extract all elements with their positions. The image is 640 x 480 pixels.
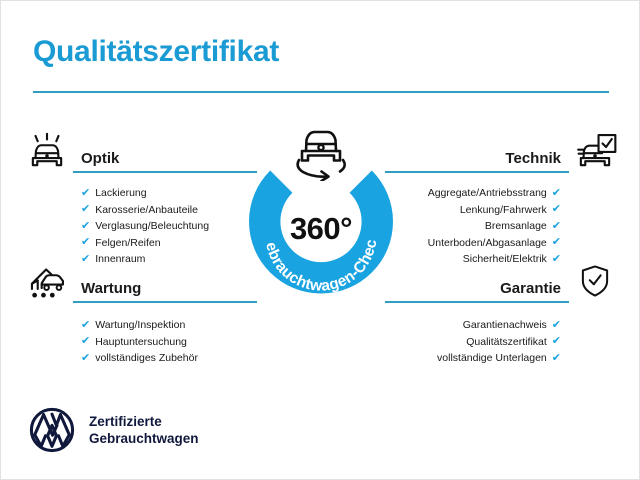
check-icon: ✔ bbox=[81, 221, 90, 232]
check-icon: ✔ bbox=[552, 237, 561, 248]
list-item-label: Verglasung/Beleuchtung bbox=[95, 218, 209, 235]
section-technik: Technik Aggregate/Antriebsstrang✔ Lenkun… bbox=[381, 129, 621, 268]
list-item-label: vollständiges Zubehör bbox=[95, 350, 198, 367]
shield-check-icon bbox=[569, 259, 621, 303]
list-item: ✔Hauptuntersuchung bbox=[81, 334, 261, 351]
badge-360-gebrauchtwagen-check: Gebrauchtwagen-Check 360° bbox=[226, 119, 416, 324]
section-title-wartung: Wartung bbox=[81, 280, 141, 297]
check-icon: ✔ bbox=[81, 188, 90, 199]
check-icon: ✔ bbox=[552, 320, 561, 331]
car-checkbox-icon bbox=[569, 129, 621, 173]
footer-line-1: Zertifizierte bbox=[89, 413, 199, 430]
list-item-label: Felgen/Reifen bbox=[95, 235, 160, 252]
check-icon: ✔ bbox=[81, 204, 90, 215]
list-item-label: Karosserie/Anbauteile bbox=[95, 202, 198, 219]
car-shine-icon bbox=[21, 129, 73, 173]
check-icon: ✔ bbox=[81, 336, 90, 347]
section-header-technik: Technik bbox=[381, 129, 621, 175]
check-icon: ✔ bbox=[81, 353, 90, 364]
footer-text: Zertifizierte Gebrauchtwagen bbox=[89, 413, 199, 447]
section-title-garantie: Garantie bbox=[500, 280, 561, 297]
list-item-label: Bremsanlage bbox=[485, 218, 547, 235]
title-divider bbox=[33, 91, 609, 93]
check-icon: ✔ bbox=[81, 320, 90, 331]
section-title-technik: Technik bbox=[505, 150, 561, 167]
list-item-label: Lackierung bbox=[95, 185, 146, 202]
section-header-garantie: Garantie bbox=[381, 259, 621, 305]
list-item-label: Lenkung/Fahrwerk bbox=[460, 202, 547, 219]
list-item-label: Garantienachweis bbox=[463, 317, 547, 334]
list-item: vollständige Unterlagen✔ bbox=[381, 350, 561, 367]
car-lift-icon bbox=[21, 259, 73, 303]
list-item-label: vollständige Unterlagen bbox=[437, 350, 547, 367]
checklist-garantie: Garantienachweis✔ Qualitätszertifikat✔ v… bbox=[381, 317, 561, 367]
badge-value: 360° bbox=[226, 211, 416, 247]
check-icon: ✔ bbox=[552, 353, 561, 364]
footer-line-2: Gebrauchtwagen bbox=[89, 430, 199, 447]
section-header-wartung: Wartung bbox=[21, 259, 261, 305]
list-item-label: Aggregate/Antriebsstrang bbox=[428, 185, 547, 202]
car-rotation-icon bbox=[283, 119, 359, 181]
section-title-optik: Optik bbox=[81, 150, 119, 167]
list-item: ✔vollständiges Zubehör bbox=[81, 350, 261, 367]
page-title: Qualitätszertifikat bbox=[33, 35, 279, 69]
footer-branding: Zertifizierte Gebrauchtwagen bbox=[29, 407, 199, 453]
section-wartung: Wartung ✔Wartung/Inspektion ✔Hauptunters… bbox=[21, 259, 261, 367]
section-garantie: Garantie Garantienachweis✔ Qualitätszert… bbox=[381, 259, 621, 367]
check-icon: ✔ bbox=[552, 204, 561, 215]
certificate-page: Qualitätszertifikat bbox=[0, 0, 640, 480]
list-item-label: Wartung/Inspektion bbox=[95, 317, 185, 334]
checklist-wartung: ✔Wartung/Inspektion ✔Hauptuntersuchung ✔… bbox=[81, 317, 261, 367]
list-item-label: Hauptuntersuchung bbox=[95, 334, 187, 351]
list-item-label: Unterboden/Abgasanlage bbox=[428, 235, 547, 252]
check-icon: ✔ bbox=[552, 188, 561, 199]
volkswagen-logo bbox=[29, 407, 75, 453]
check-icon: ✔ bbox=[552, 336, 561, 347]
section-header-optik: Optik bbox=[21, 129, 261, 175]
section-optik: Optik ✔Lackierung ✔Karosserie/Anbauteile… bbox=[21, 129, 261, 268]
check-icon: ✔ bbox=[81, 237, 90, 248]
check-icon: ✔ bbox=[552, 221, 561, 232]
list-item: Qualitätszertifikat✔ bbox=[381, 334, 561, 351]
list-item-label: Qualitätszertifikat bbox=[466, 334, 547, 351]
